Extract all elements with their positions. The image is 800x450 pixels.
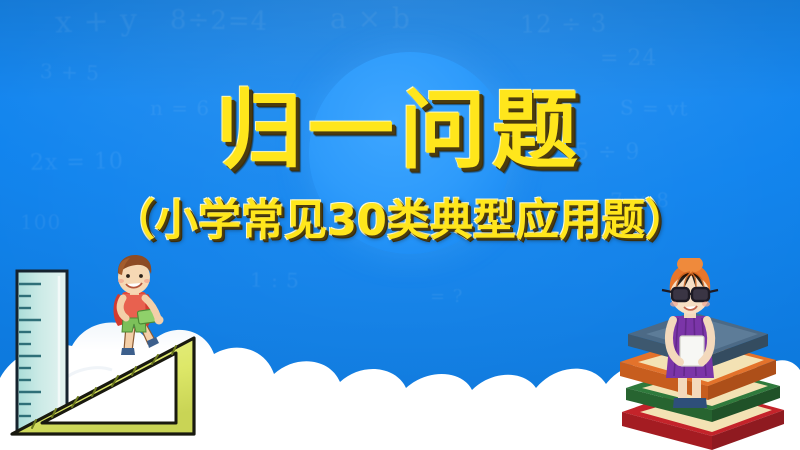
slide-canvas: x + y 8÷2=4 a × b 12 ÷ 3 = 24 3 + 5 n = … (0, 0, 800, 450)
books-and-girl-group (616, 258, 788, 450)
title-glow-circle (309, 52, 511, 254)
schoolboy-character (92, 252, 178, 360)
